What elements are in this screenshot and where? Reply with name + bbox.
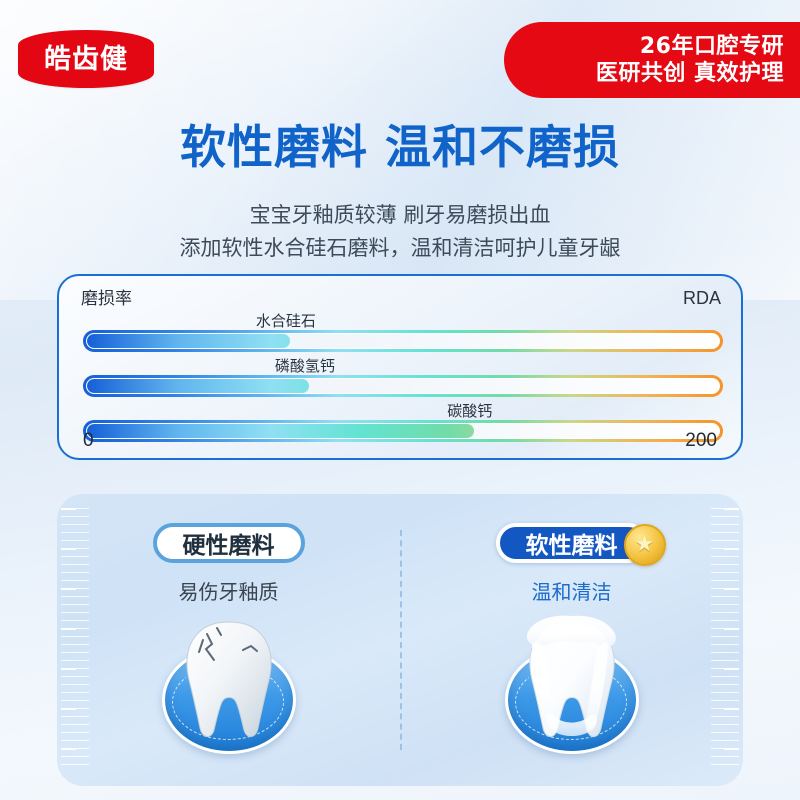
- hard-abrasive-pill: 硬性磨料: [153, 523, 305, 563]
- clean-tooth-illustration: [497, 612, 647, 762]
- promo-banner-line-2: 医研共创 真效护理: [596, 60, 784, 88]
- chart-bars: 水合硅石 磷酸氢钙 碳酸钙: [83, 310, 723, 445]
- chart-bar-inner: [86, 378, 720, 394]
- chart-bar-row: 磷酸氢钙: [83, 355, 723, 400]
- chart-bar-fill: [87, 334, 290, 348]
- chart-bar-track: [83, 330, 723, 352]
- chart-axis-title: 磨损率: [81, 284, 132, 309]
- comparison-card: 硬性磨料 易伤牙釉质: [57, 494, 743, 786]
- chart-scale-min: 0: [83, 430, 94, 452]
- brand-logo: 皓齿健: [18, 30, 154, 88]
- cracked-tooth-icon: [181, 618, 277, 742]
- subtitle-line-2: 添加软性水合硅石磨料，温和清洁呵护儿童牙龈: [0, 232, 800, 262]
- chart-bar-label: 磷酸氢钙: [275, 355, 335, 376]
- subtitle-line-1: 宝宝牙釉质较薄 刷牙易磨损出血: [0, 199, 800, 229]
- abrasion-chart-card: 磨损率 RDA 水合硅石 磷酸氢钙: [57, 274, 743, 460]
- chart-unit-label: RDA: [683, 288, 721, 309]
- promo-banner-line-1: 26年口腔专研: [640, 33, 784, 61]
- hard-abrasive-pill-label: 硬性磨料: [183, 526, 275, 560]
- soft-abrasive-pill-label: 软性磨料: [526, 526, 618, 560]
- comparison-column-soft: 软性磨料 ★ 温和清洁: [400, 494, 743, 786]
- brand-logo-text: 皓齿健: [44, 46, 128, 73]
- chart-bar-fill: [87, 379, 309, 393]
- hard-abrasive-caption: 易伤牙釉质: [57, 576, 400, 605]
- promo-banner: 26年口腔专研 医研共创 真效护理: [504, 22, 800, 98]
- chart-scale-max: 200: [685, 430, 717, 452]
- chart-header: 磨损率 RDA: [81, 284, 721, 309]
- chart-bar-track: [83, 375, 723, 397]
- page-title: 软性磨料 温和不磨损: [0, 122, 800, 173]
- soft-abrasive-pill: 软性磨料 ★: [496, 523, 648, 563]
- chart-scale: 0 200: [83, 430, 717, 452]
- chart-bar-label: 水合硅石: [256, 310, 316, 331]
- clean-tooth-icon: [524, 618, 620, 742]
- comparison-column-hard: 硬性磨料 易伤牙釉质: [57, 494, 400, 786]
- chart-bar-row: 水合硅石: [83, 310, 723, 355]
- page-root: 皓齿健 26年口腔专研 医研共创 真效护理 软性磨料 温和不磨损 宝宝牙釉质较薄…: [0, 0, 800, 800]
- soft-abrasive-caption: 温和清洁: [400, 576, 743, 605]
- chart-bar-label: 碳酸钙: [447, 400, 492, 421]
- star-glyph: ★: [635, 534, 655, 556]
- chart-bar-inner: [86, 333, 720, 349]
- star-medal-icon: ★: [624, 524, 666, 566]
- cracked-tooth-illustration: [154, 612, 304, 762]
